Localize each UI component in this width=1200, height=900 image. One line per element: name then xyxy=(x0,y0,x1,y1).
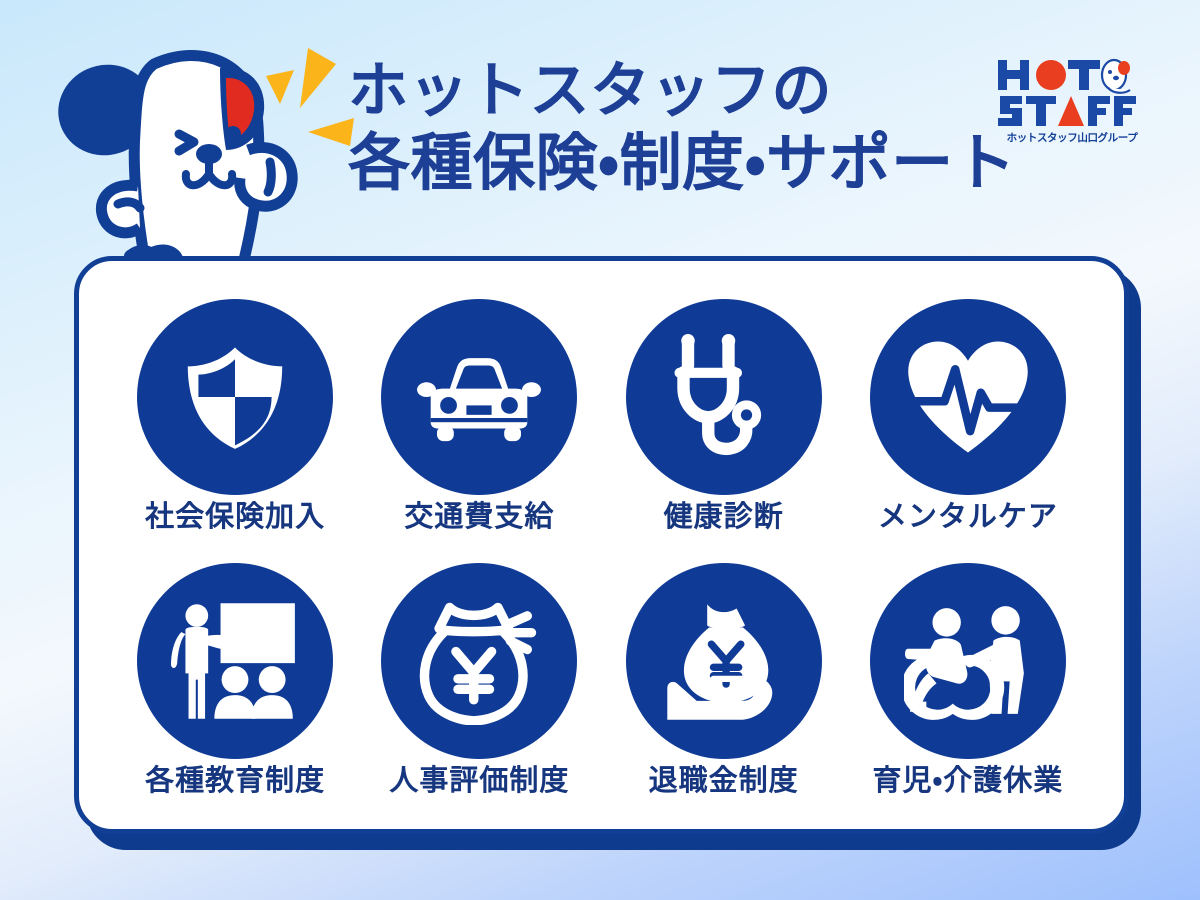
logo-tagline: ホットスタッフ山口グループ xyxy=(996,130,1148,145)
hot-staff-logo: ホットスタッフ山口グループ xyxy=(996,58,1148,154)
benefits-grid: 社会保険加入 xyxy=(79,261,1124,829)
benefit-label: 退職金制度 xyxy=(649,767,799,796)
page-title: ホットスタッフの 各種保険・制度・サポート xyxy=(348,56,1016,200)
shield-icon xyxy=(176,338,294,456)
title-line-2: 各種保険・制度・サポート xyxy=(348,127,1016,200)
title-line-1: ホットスタッフの xyxy=(348,56,1016,127)
presentation-teacher-icon-circle xyxy=(137,563,333,759)
benefit-item-transport-expense[interactable]: 交通費支給 xyxy=(357,283,601,547)
benefit-item-education-system[interactable]: 各種教育制度 xyxy=(113,547,357,811)
car-icon-circle xyxy=(381,299,577,495)
presentation-teacher-icon xyxy=(171,599,299,723)
benefit-label: メンタルケア xyxy=(878,503,1058,532)
wheelchair-assist-icon-circle xyxy=(870,563,1066,759)
benefit-label: 人事評価制度 xyxy=(389,767,569,796)
benefit-label: 各種教育制度 xyxy=(145,767,325,796)
benefit-item-mental-care[interactable]: メンタルケア xyxy=(846,283,1090,547)
benefit-item-childcare-leave[interactable]: 育児・介護休業 xyxy=(846,547,1090,811)
benefit-label: 社会保険加入 xyxy=(145,503,325,532)
benefit-label: 交通費支給 xyxy=(404,503,554,532)
money-bag-icon-circle xyxy=(381,563,577,759)
benefits-card: 社会保険加入 xyxy=(74,256,1129,834)
shield-icon-circle xyxy=(137,299,333,495)
hand-money-bag-icon-circle xyxy=(626,563,822,759)
stethoscope-icon xyxy=(666,334,782,460)
poster-canvas: ホットスタッフの 各種保険・制度・サポート xyxy=(0,0,1200,900)
header: ホットスタッフの 各種保険・制度・サポート xyxy=(0,0,1200,250)
benefit-item-social-insurance[interactable]: 社会保険加入 xyxy=(113,283,357,547)
benefit-label: 健康診断 xyxy=(664,503,784,532)
heart-pulse-icon-circle xyxy=(870,299,1066,495)
wheelchair-assist-icon xyxy=(904,599,1032,723)
benefit-item-health-checkup[interactable]: 健康診断 xyxy=(602,283,846,547)
benefit-item-hr-evaluation[interactable]: 人事評価制度 xyxy=(357,547,601,811)
benefit-label: 育児・介護休業 xyxy=(872,767,1063,796)
car-icon xyxy=(416,334,542,460)
heart-pulse-icon xyxy=(904,337,1032,457)
hand-money-bag-icon xyxy=(661,598,787,724)
stethoscope-icon-circle xyxy=(626,299,822,495)
benefit-item-retirement-pay[interactable]: 退職金制度 xyxy=(602,547,846,811)
money-bag-icon xyxy=(417,597,541,725)
